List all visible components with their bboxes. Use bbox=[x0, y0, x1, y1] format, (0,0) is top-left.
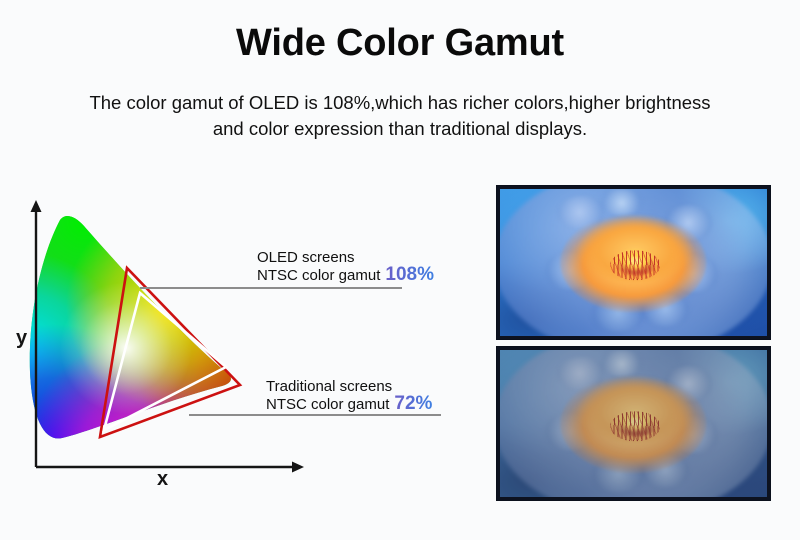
oled-leader-line bbox=[140, 287, 402, 289]
x-axis-arrow bbox=[292, 462, 304, 473]
page-subtitle: The color gamut of OLED is 108%,which ha… bbox=[40, 90, 760, 142]
traditional-callout-label: NTSC color gamut bbox=[266, 396, 389, 413]
slide-root: Wide Color Gamut The color gamut of OLED… bbox=[0, 0, 800, 540]
oled-callout-label: NTSC color gamut bbox=[257, 267, 380, 284]
traditional-gamut-value: 72% bbox=[394, 395, 432, 412]
subtitle-line-1: The color gamut of OLED is 108%,which ha… bbox=[89, 92, 710, 113]
oled-callout-line-2: NTSC color gamut 108% bbox=[257, 266, 434, 284]
page-title: Wide Color Gamut bbox=[0, 22, 800, 65]
traditional-callout: Traditional screens NTSC color gamut 72% bbox=[266, 378, 432, 413]
flower-stamens bbox=[610, 411, 660, 441]
chart-svg bbox=[0, 180, 480, 510]
oled-display-preview bbox=[497, 186, 770, 339]
y-axis-label: y bbox=[16, 327, 27, 350]
oled-callout: OLED screens NTSC color gamut 108% bbox=[257, 249, 434, 284]
traditional-screen bbox=[500, 350, 767, 497]
flower bbox=[551, 201, 717, 324]
subtitle-line-2: and color expression than traditional di… bbox=[40, 116, 760, 142]
traditional-callout-line-2: NTSC color gamut 72% bbox=[266, 395, 432, 413]
spectral-locus bbox=[0, 180, 300, 480]
y-axis-arrow bbox=[31, 200, 42, 212]
oled-screen bbox=[500, 189, 767, 336]
flower-image-oled bbox=[500, 189, 767, 336]
cie-chromaticity-chart: y x bbox=[0, 180, 480, 510]
traditional-leader-line bbox=[189, 414, 441, 416]
flower bbox=[551, 362, 717, 485]
oled-gamut-value: 108% bbox=[385, 266, 434, 283]
x-axis-label: x bbox=[157, 468, 168, 491]
flower-image-traditional bbox=[500, 350, 767, 497]
traditional-display-preview bbox=[497, 347, 770, 500]
flower-stamens bbox=[610, 250, 660, 280]
